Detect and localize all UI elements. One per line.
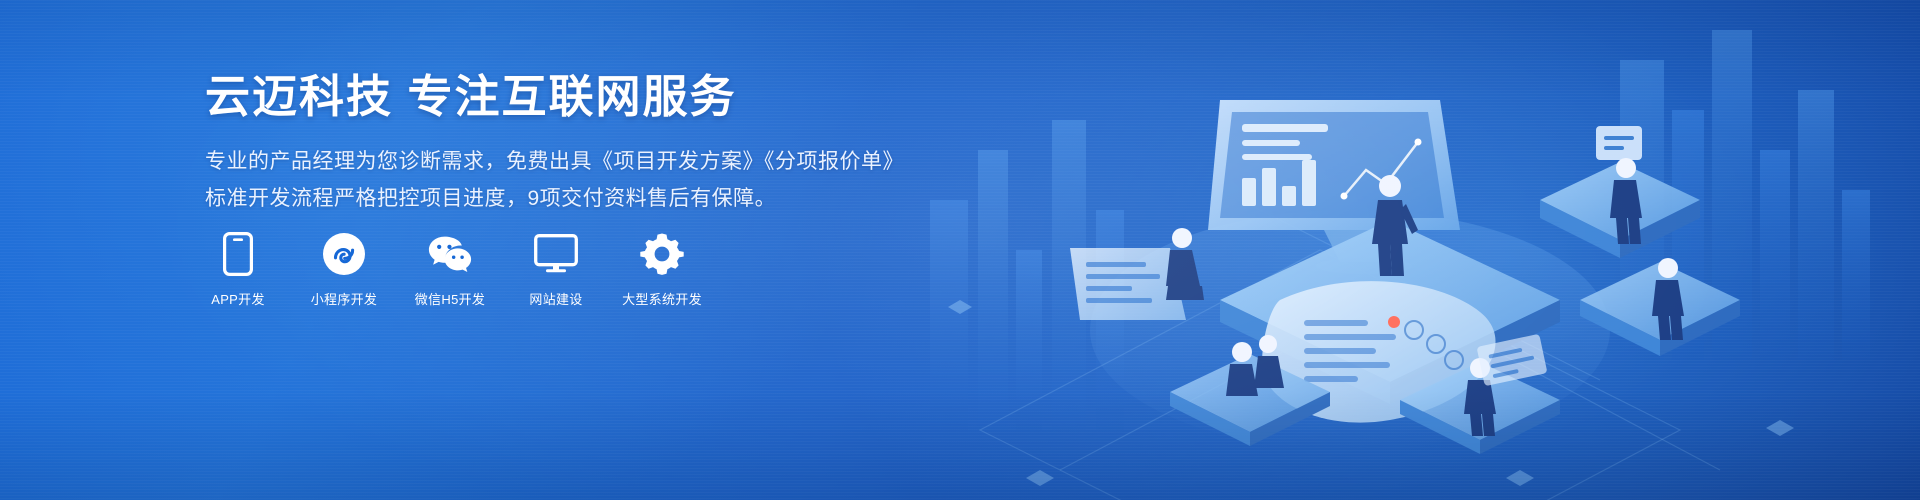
service-label-wechat-h5: 微信H5开发 bbox=[415, 289, 485, 308]
hero-banner: 云迈科技 专注互联网服务 专业的产品经理为您诊断需求，免费出具《项目开发方案》《… bbox=[0, 0, 1920, 500]
service-item-wechat-h5[interactable]: 微信H5开发 bbox=[414, 232, 486, 308]
service-label-large-system: 大型系统开发 bbox=[622, 289, 702, 308]
monitor-icon bbox=[534, 232, 578, 276]
service-list: APP开发 小程序开发 bbox=[202, 232, 698, 308]
illustration-isometric-data-platform bbox=[920, 0, 1920, 500]
service-label-website: 网站建设 bbox=[529, 289, 582, 308]
banner-subtitle-line-1: 专业的产品经理为您诊断需求，免费出具《项目开发方案》《分项报价单》 bbox=[205, 144, 905, 180]
gear-icon bbox=[640, 232, 684, 276]
mobile-phone-icon bbox=[216, 232, 260, 276]
service-item-app[interactable]: APP开发 bbox=[202, 232, 274, 308]
service-item-website[interactable]: 网站建设 bbox=[520, 232, 592, 308]
banner-subtitle-line-2: 标准开发流程严格把控项目进度，9项交付资料售后有保障。 bbox=[205, 181, 905, 217]
mini-program-icon bbox=[322, 232, 366, 276]
service-item-mini-program[interactable]: 小程序开发 bbox=[308, 232, 380, 308]
service-item-large-system[interactable]: 大型系统开发 bbox=[626, 232, 698, 308]
banner-headline: 云迈科技 专注互联网服务 bbox=[205, 72, 905, 122]
service-label-mini-program: 小程序开发 bbox=[311, 289, 378, 308]
banner-copy: 云迈科技 专注互联网服务 专业的产品经理为您诊断需求，免费出具《项目开发方案》《… bbox=[205, 72, 905, 217]
banner-subtitle: 专业的产品经理为您诊断需求，免费出具《项目开发方案》《分项报价单》 标准开发流程… bbox=[205, 144, 905, 216]
wechat-icon bbox=[428, 232, 472, 276]
service-label-app: APP开发 bbox=[211, 289, 265, 308]
